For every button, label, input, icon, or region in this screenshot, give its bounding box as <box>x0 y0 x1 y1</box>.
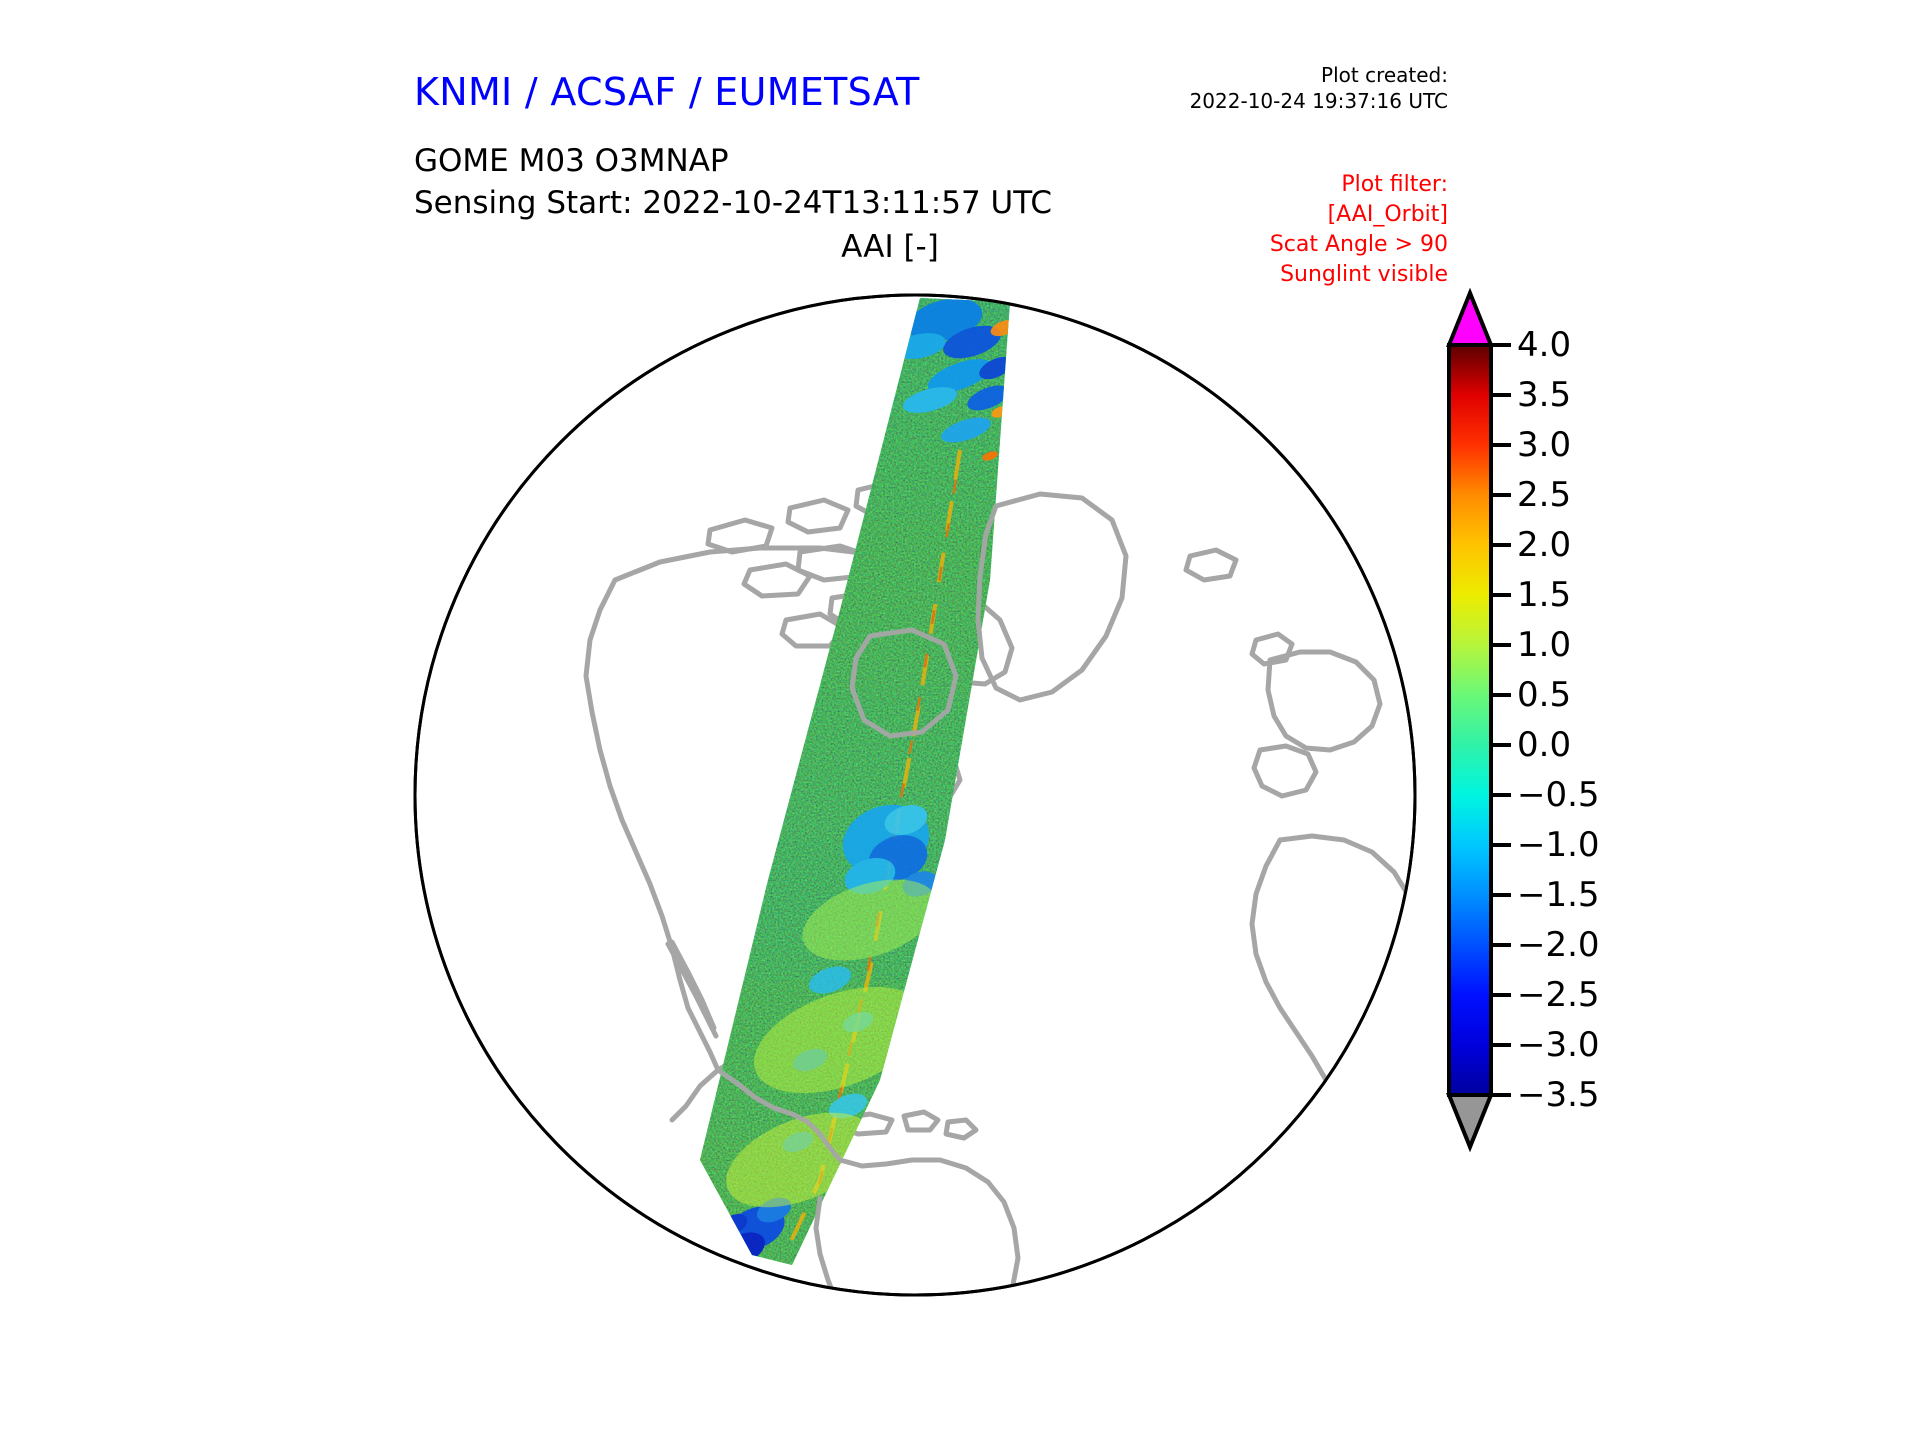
colorbar-tick-label: 0.0 <box>1517 725 1571 765</box>
plot-subtitle: AAI [-] <box>690 229 1090 265</box>
colorbar-tick-label: 3.0 <box>1517 425 1571 465</box>
sensing-start-text: Sensing Start: 2022-10-24T13:11:57 UTC <box>414 185 1052 221</box>
colorbar-tick-label: −1.0 <box>1517 825 1600 865</box>
colorbar-tick-label: −3.0 <box>1517 1025 1600 1065</box>
orthographic-globe <box>400 280 1430 1310</box>
product-title: GOME M03 O3MNAP <box>414 143 729 179</box>
map-plot-area <box>400 280 1430 1310</box>
colorbar-ticks <box>1491 345 1511 1095</box>
colorbar-under-arrow <box>1449 1095 1491 1147</box>
colorbar-tick-label: −2.0 <box>1517 925 1600 965</box>
colorbar-tick-label: 1.5 <box>1517 575 1571 615</box>
colorbar-tick-label: 1.0 <box>1517 625 1571 665</box>
colorbar-tick-label: −3.5 <box>1517 1075 1600 1115</box>
plot-created-block: Plot created: 2022-10-24 19:37:16 UTC <box>1190 62 1448 114</box>
plot-filter-line-2: Scat Angle > 90 <box>1270 230 1448 260</box>
plot-filter-block: Plot filter: [AAI_Orbit] Scat Angle > 90… <box>1270 170 1448 290</box>
plot-created-label: Plot created: <box>1190 62 1448 88</box>
colorbar-tick-label: 4.0 <box>1517 325 1571 365</box>
colorbar-tick-label: −1.5 <box>1517 875 1600 915</box>
organisation-title: KNMI / ACSAF / EUMETSAT <box>414 70 920 114</box>
colorbar-over-arrow <box>1449 293 1491 345</box>
colorbar-tick-label: 2.5 <box>1517 475 1571 515</box>
colorbar-gradient <box>1449 345 1491 1095</box>
plot-filter-line-1: [AAI_Orbit] <box>1270 200 1448 230</box>
colorbar-tick-label: −0.5 <box>1517 775 1600 815</box>
colorbar-tick-label: −2.5 <box>1517 975 1600 1015</box>
colorbar-tick-label: 0.5 <box>1517 675 1571 715</box>
plot-created-timestamp: 2022-10-24 19:37:16 UTC <box>1190 88 1448 114</box>
plot-page: KNMI / ACSAF / EUMETSAT GOME M03 O3MNAP … <box>0 0 1920 1440</box>
colorbar-tick-label: 3.5 <box>1517 375 1571 415</box>
colorbar-svg <box>1443 285 1773 1305</box>
colorbar: 4.0 3.5 3.0 2.5 2.0 1.5 1.0 0.5 0.0 −0.5… <box>1443 285 1773 1305</box>
plot-filter-title: Plot filter: <box>1270 170 1448 200</box>
colorbar-tick-label: 2.0 <box>1517 525 1571 565</box>
